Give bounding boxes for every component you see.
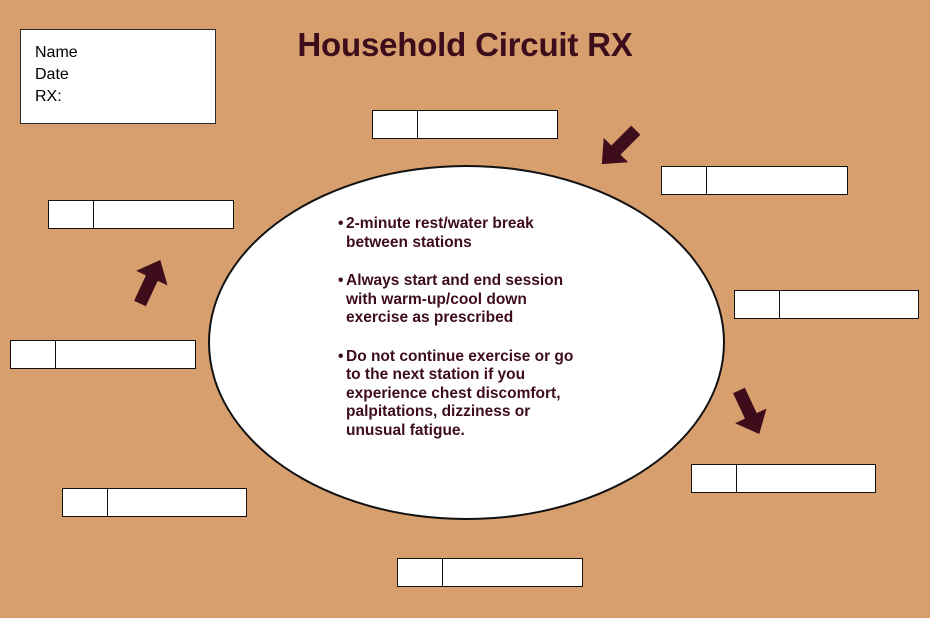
station-box-right[interactable] xyxy=(734,290,919,319)
station-number-cell[interactable] xyxy=(11,341,56,368)
station-number-cell[interactable] xyxy=(398,559,443,586)
station-name-cell[interactable] xyxy=(737,465,875,492)
instruction-bullet-1: 2-minute rest/water break between statio… xyxy=(338,215,598,252)
station-number-cell[interactable] xyxy=(373,111,418,138)
instruction-bullet-2: Always start and end session with warm-u… xyxy=(338,272,598,328)
station-number-cell[interactable] xyxy=(49,201,94,228)
date-label: Date xyxy=(35,64,215,86)
station-box-bottom-right[interactable] xyxy=(691,464,876,493)
arrow-down-right-icon xyxy=(592,120,646,174)
patient-info-box[interactable]: Name Date RX: xyxy=(20,29,216,124)
arrow-up-right-icon xyxy=(123,255,177,309)
station-name-cell[interactable] xyxy=(443,559,582,586)
arrow-down-left-icon xyxy=(722,385,776,439)
station-box-top[interactable] xyxy=(372,110,558,139)
instruction-bullet-3: Do not continue exercise or go to the ne… xyxy=(338,348,598,441)
rx-label: RX: xyxy=(35,86,215,108)
name-label: Name xyxy=(35,42,215,64)
instructions-list: 2-minute rest/water break between statio… xyxy=(338,215,598,440)
station-box-top-right[interactable] xyxy=(661,166,848,195)
station-number-cell[interactable] xyxy=(692,465,737,492)
station-name-cell[interactable] xyxy=(707,167,847,194)
station-name-cell[interactable] xyxy=(780,291,918,318)
station-number-cell[interactable] xyxy=(735,291,780,318)
station-box-bottom-left[interactable] xyxy=(62,488,247,517)
station-name-cell[interactable] xyxy=(94,201,233,228)
station-number-cell[interactable] xyxy=(662,167,707,194)
station-number-cell[interactable] xyxy=(63,489,108,516)
station-name-cell[interactable] xyxy=(56,341,195,368)
station-box-bottom[interactable] xyxy=(397,558,583,587)
station-box-top-left[interactable] xyxy=(48,200,234,229)
station-box-left[interactable] xyxy=(10,340,196,369)
station-name-cell[interactable] xyxy=(108,489,246,516)
worksheet-page: Household Circuit RX Name Date RX: 2-min… xyxy=(0,0,930,618)
station-name-cell[interactable] xyxy=(418,111,557,138)
